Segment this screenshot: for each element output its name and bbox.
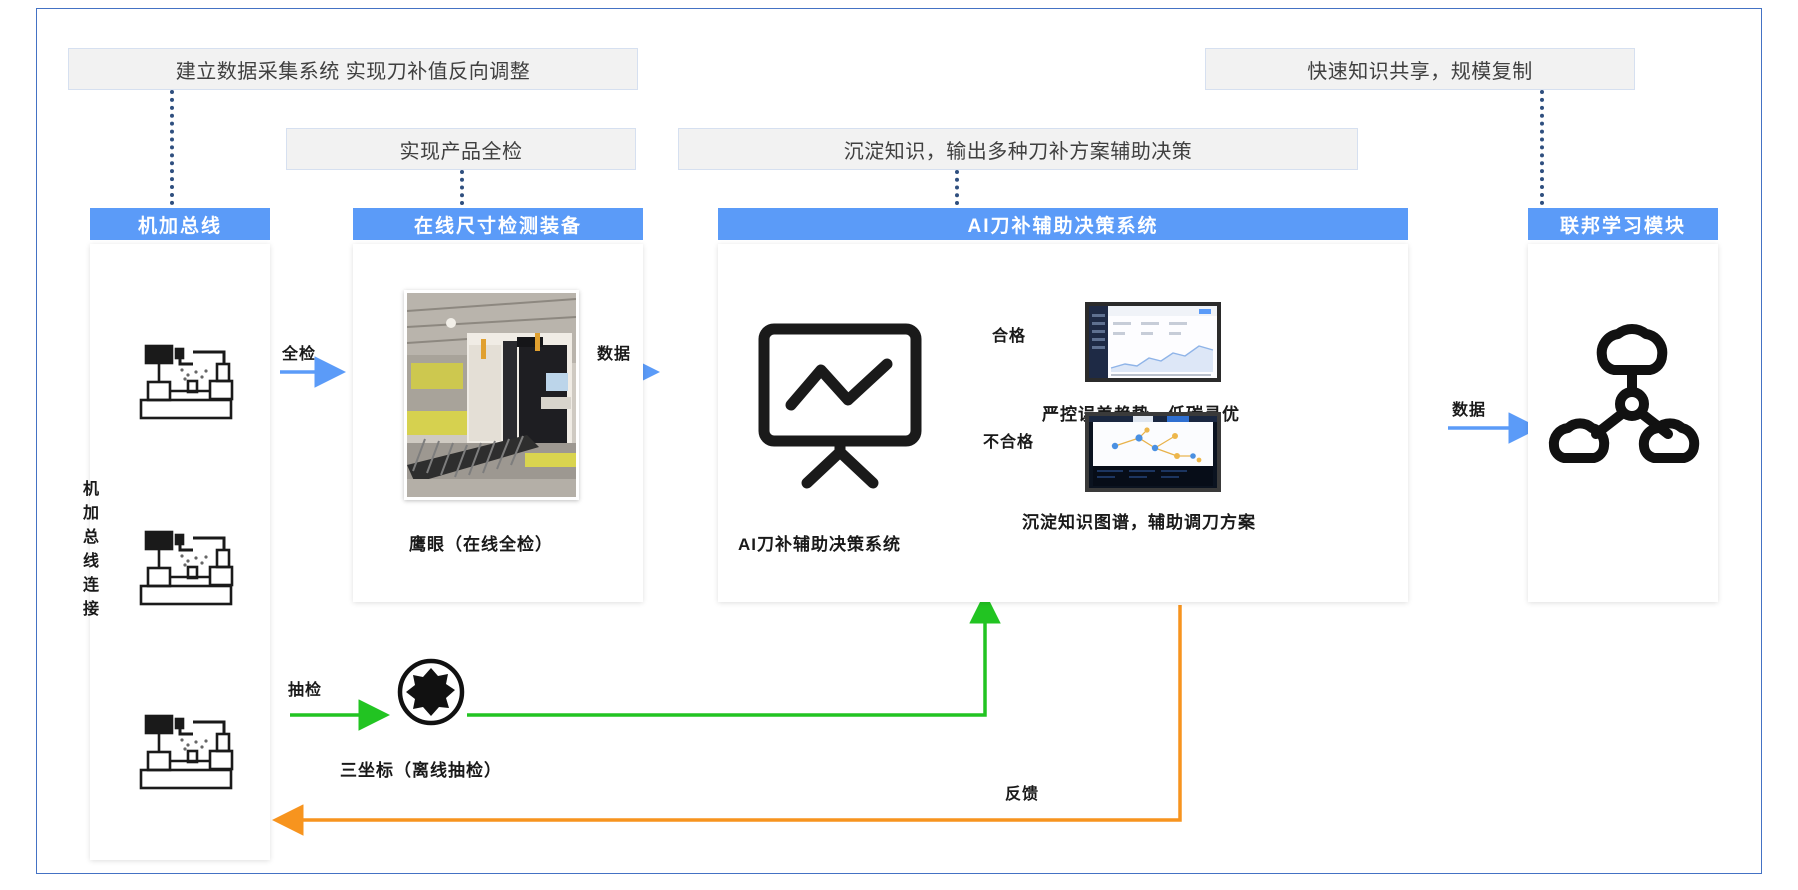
cnc-machine-icon: [138, 714, 234, 792]
machining-bus-vertical-label: 机加总线连接: [80, 480, 96, 624]
arrow-label-feedback: 反馈: [1005, 780, 1039, 804]
diagram-canvas: 建立数据采集系统 实现刀补值反向调整 实现产品全检 沉淀知识，输出多种刀补方案辅…: [0, 0, 1798, 890]
callout-data-collection: 建立数据采集系统 实现刀补值反向调整: [68, 48, 638, 90]
callout-knowledge-precipitation: 沉淀知识，输出多种刀补方案辅助决策: [678, 128, 1358, 170]
arrow-label-sampling: 抽检: [288, 676, 322, 700]
cnc-machine-icon: [138, 344, 234, 422]
callout-leader-4: [1540, 90, 1544, 205]
callout-knowledge-sharing: 快速知识共享，规模复制: [1205, 48, 1635, 90]
column-header-ai-decision: AI刀补辅助决策系统: [718, 208, 1408, 240]
callout-text: 快速知识共享，规模复制: [1307, 55, 1533, 84]
gear-badge-icon: [395, 656, 467, 728]
column-header-machining-bus: 机加总线: [90, 208, 270, 240]
cnc-machine-icon: [138, 530, 234, 608]
arrow-label-data-right: 数据: [1452, 396, 1486, 420]
federated-cloud-icon: [1540, 318, 1708, 478]
column-header-label: AI刀补辅助决策系统: [967, 211, 1158, 238]
callout-full-inspection: 实现产品全检: [286, 128, 636, 170]
fail-caption: 沉淀知识图谱，辅助调刀方案: [1022, 508, 1256, 533]
eagle-eye-caption: 鹰眼（在线全检）: [409, 530, 553, 555]
arrow-label-pass: 合格: [992, 322, 1026, 346]
callout-text: 实现产品全检: [400, 135, 523, 164]
column-header-label: 机加总线: [138, 211, 222, 238]
column-header-federated-learning: 联邦学习模块: [1528, 208, 1718, 240]
callout-leader-1: [170, 90, 174, 205]
inspection-machine-photo: [404, 290, 579, 500]
chart-board-icon: [755, 320, 925, 490]
column-header-label: 联邦学习模块: [1560, 211, 1686, 238]
arrow-label-fail: 不合格: [983, 428, 1034, 452]
callout-text: 建立数据采集系统 实现刀补值反向调整: [176, 55, 531, 84]
ai-system-caption: AI刀补辅助决策系统: [738, 530, 901, 555]
dashboard-screenshot: [1085, 302, 1221, 382]
callout-leader-2: [460, 170, 464, 205]
callout-leader-3: [955, 170, 959, 205]
column-header-label: 在线尺寸检测装备: [414, 211, 582, 238]
knowledge-graph-screenshot: [1085, 412, 1221, 492]
callout-text: 沉淀知识，输出多种刀补方案辅助决策: [844, 135, 1193, 164]
arrow-label-full-inspection: 全检: [282, 340, 316, 364]
column-header-online-dimension: 在线尺寸检测装备: [353, 208, 643, 240]
arrow-label-data: 数据: [597, 340, 631, 364]
cmm-caption: 三坐标（离线抽检）: [340, 756, 502, 781]
